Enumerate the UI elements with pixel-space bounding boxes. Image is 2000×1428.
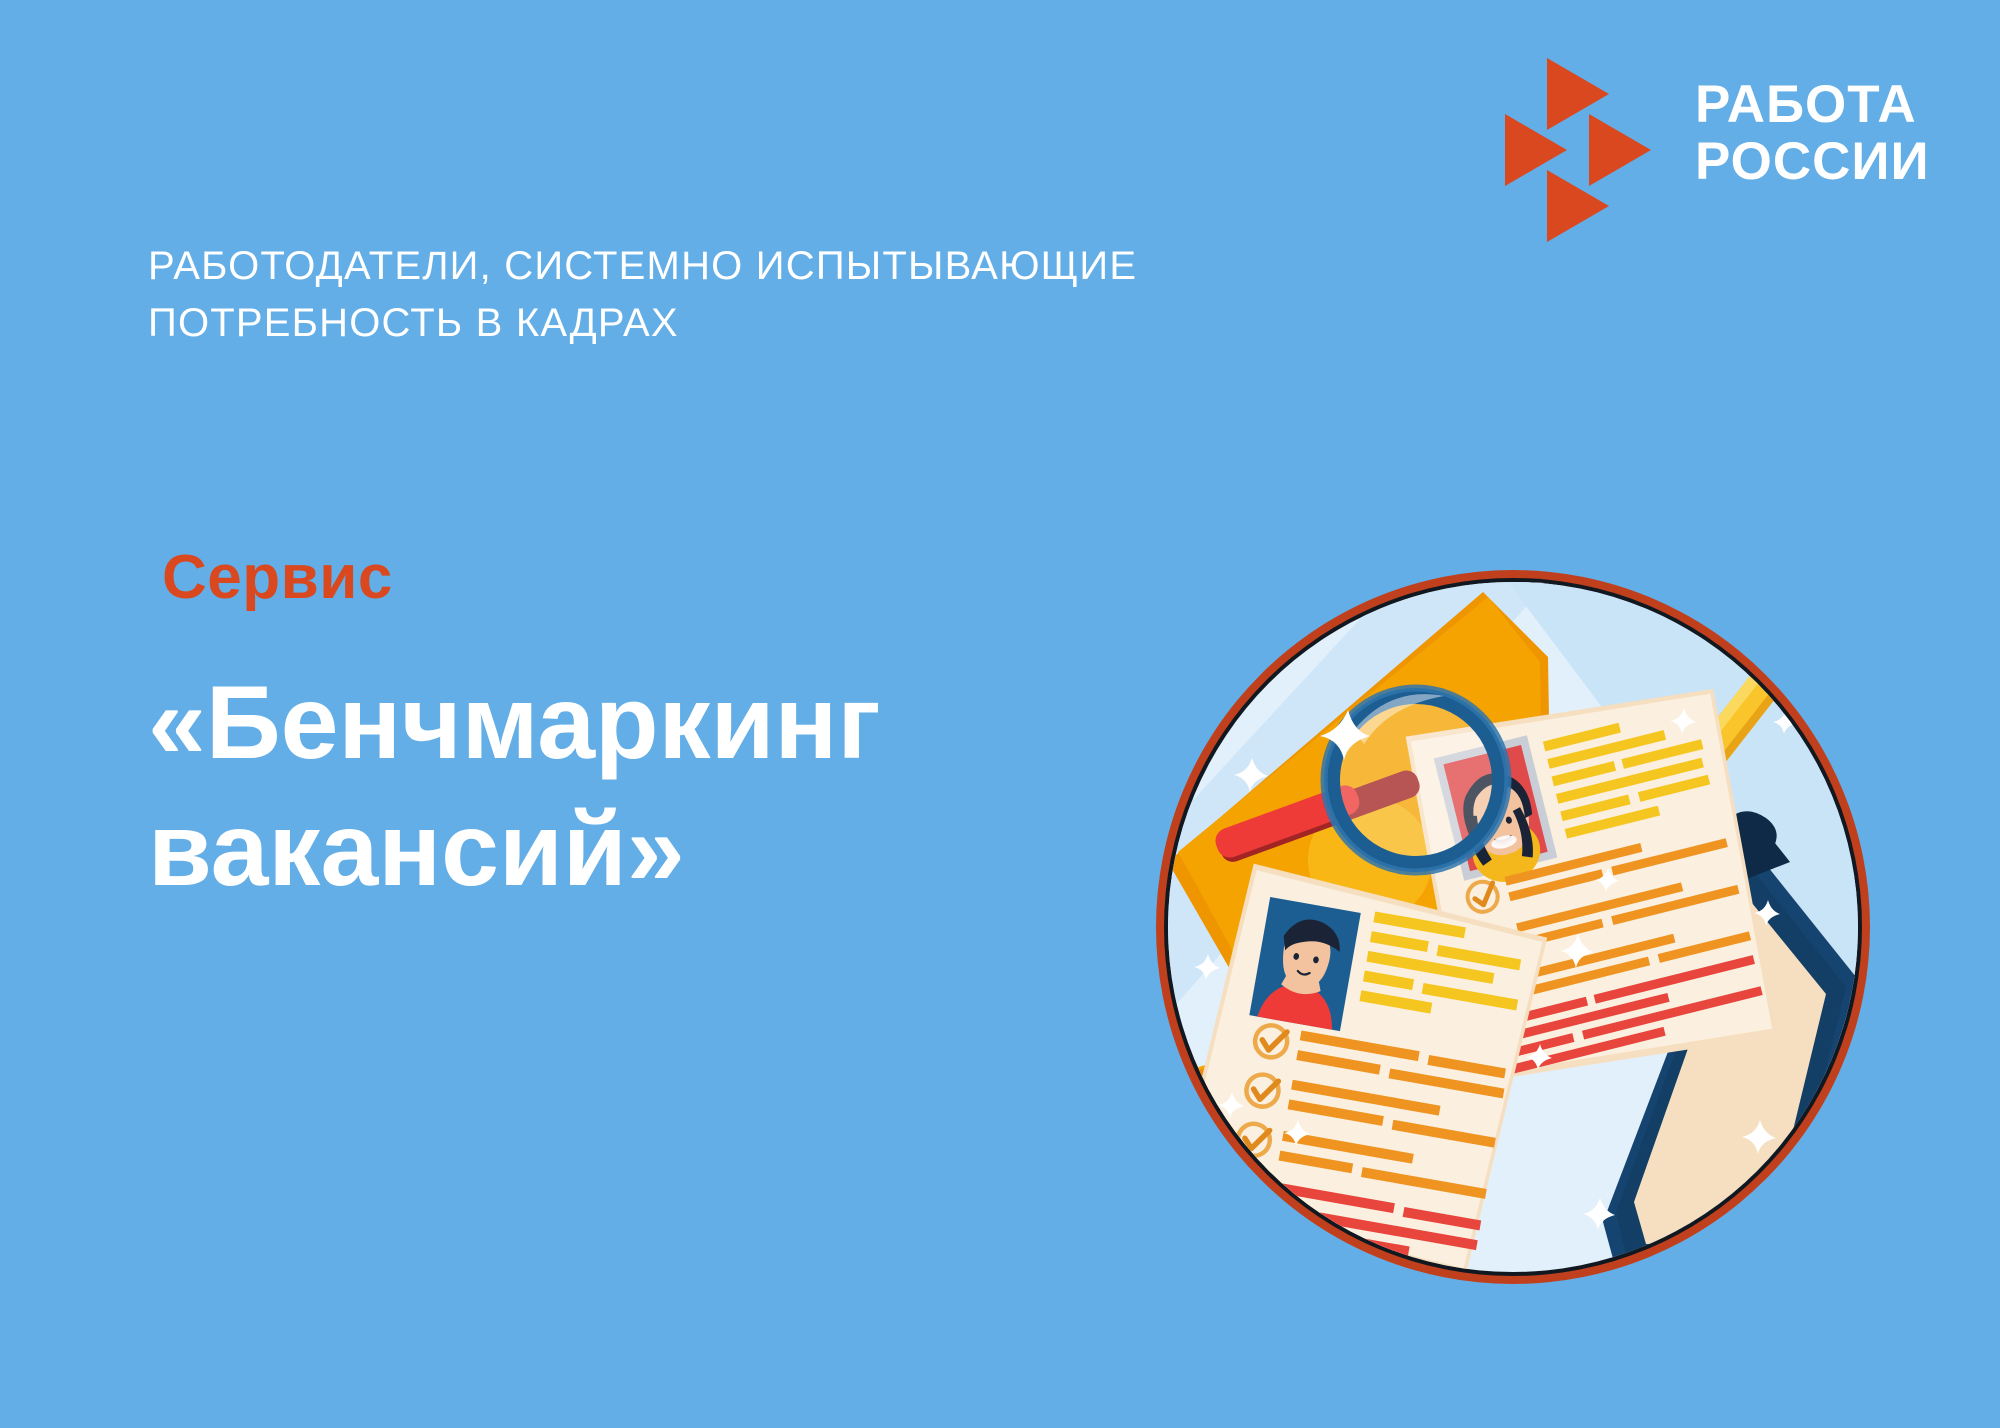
page-title-line-2: вакансий» bbox=[148, 787, 1188, 914]
resume-search-illustration bbox=[1148, 562, 1878, 1292]
triangle-bottom-icon bbox=[1547, 170, 1609, 242]
rabota-rossii-logo[interactable]: РАБОТА РОССИИ bbox=[1505, 58, 1930, 208]
page-title-line-1: «Бенчмаркинг bbox=[148, 660, 1188, 787]
rabota-rossii-logo-mark-icon bbox=[1505, 58, 1655, 208]
page-title: «Бенчмаркинг вакансий» bbox=[148, 660, 1188, 914]
promo-slide: РАБОТА РОССИИ РАБОТОДАТЕЛИ, СИСТЕМНО ИСП… bbox=[0, 0, 2000, 1428]
service-label: Сервис bbox=[162, 542, 393, 613]
kicker-line-2: ПОТРЕБНОСТЬ В КАДРАХ bbox=[148, 295, 1398, 352]
logo-wordmark-line1: РАБОТА bbox=[1695, 76, 1930, 133]
kicker-line-1: РАБОТОДАТЕЛИ, СИСТЕМНО ИСПЫТЫВАЮЩИЕ bbox=[148, 238, 1398, 295]
resume-search-illustration-svg bbox=[1148, 562, 1878, 1292]
logo-wordmark-line2: РОССИИ bbox=[1695, 133, 1930, 190]
logo-wordmark: РАБОТА РОССИИ bbox=[1695, 76, 1930, 190]
kicker-text: РАБОТОДАТЕЛИ, СИСТЕМНО ИСПЫТЫВАЮЩИЕ ПОТР… bbox=[148, 238, 1398, 352]
